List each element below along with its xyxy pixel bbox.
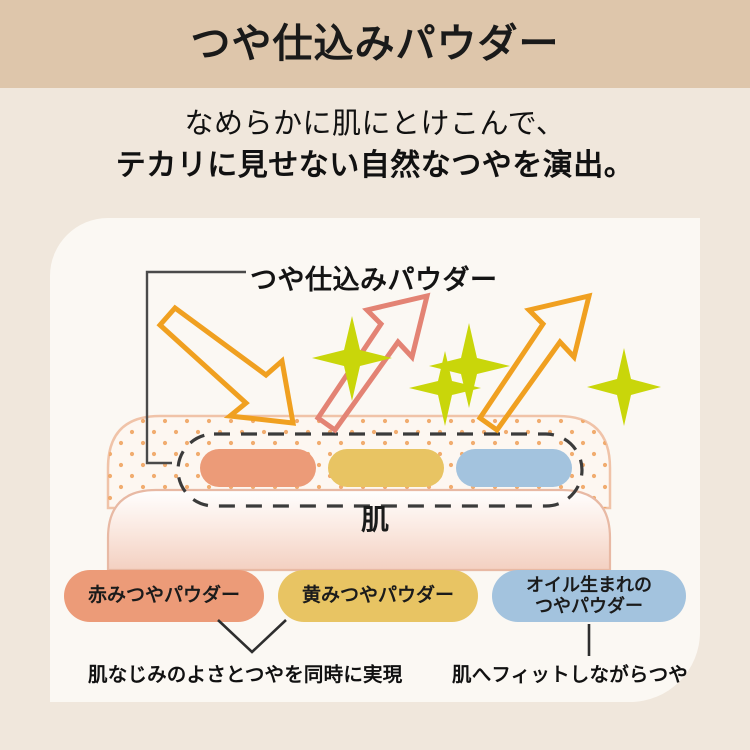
legend-blue-powder[interactable]: オイル生まれの つやパウダー	[492, 570, 686, 622]
skin-layer-label: 肌	[50, 498, 700, 538]
legend-red-powder[interactable]: 赤みつやパウダー	[64, 570, 264, 622]
legend-blue-powder-line-1: オイル生まれの	[526, 575, 652, 595]
incoming-light-arrow	[160, 308, 293, 423]
legend-yellow-powder[interactable]: 黄みつやパウダー	[278, 570, 478, 622]
red-glow-particle	[200, 449, 316, 487]
sparkle-icon	[587, 348, 661, 426]
callout-label: つや仕込みパウダー	[250, 258, 498, 297]
subtitle-line-2: テカリに見せない自然なつやを演出。	[0, 145, 750, 188]
legend-blue-powder-line-2: つやパウダー	[535, 596, 643, 616]
legend-yellow-powder-label: 黄みつやパウダー	[302, 585, 454, 607]
caption-right: 肌へフィットしながらつや	[452, 658, 688, 687]
blue-glow-particle	[456, 449, 572, 487]
yellow-glow-particle	[328, 449, 444, 487]
subtitle-line-1: なめらかに肌にとけこんで、	[0, 104, 750, 145]
caption-left: 肌なじみのよさとつやを同時に実現	[88, 658, 402, 687]
infographic-root: つや仕込みパウダー なめらかに肌にとけこんで、 テカリに見せない自然なつやを演出…	[0, 0, 750, 750]
subtitle-block: なめらかに肌にとけこんで、 テカリに見せない自然なつやを演出。	[0, 104, 750, 188]
v-connector	[218, 620, 286, 652]
legend-blue-powder-label: オイル生まれの つやパウダー	[526, 575, 652, 617]
legend-red-powder-label: 赤みつやパウダー	[88, 585, 240, 607]
header-band: つや仕込みパウダー	[0, 0, 750, 88]
page-title: つや仕込みパウダー	[191, 24, 560, 64]
